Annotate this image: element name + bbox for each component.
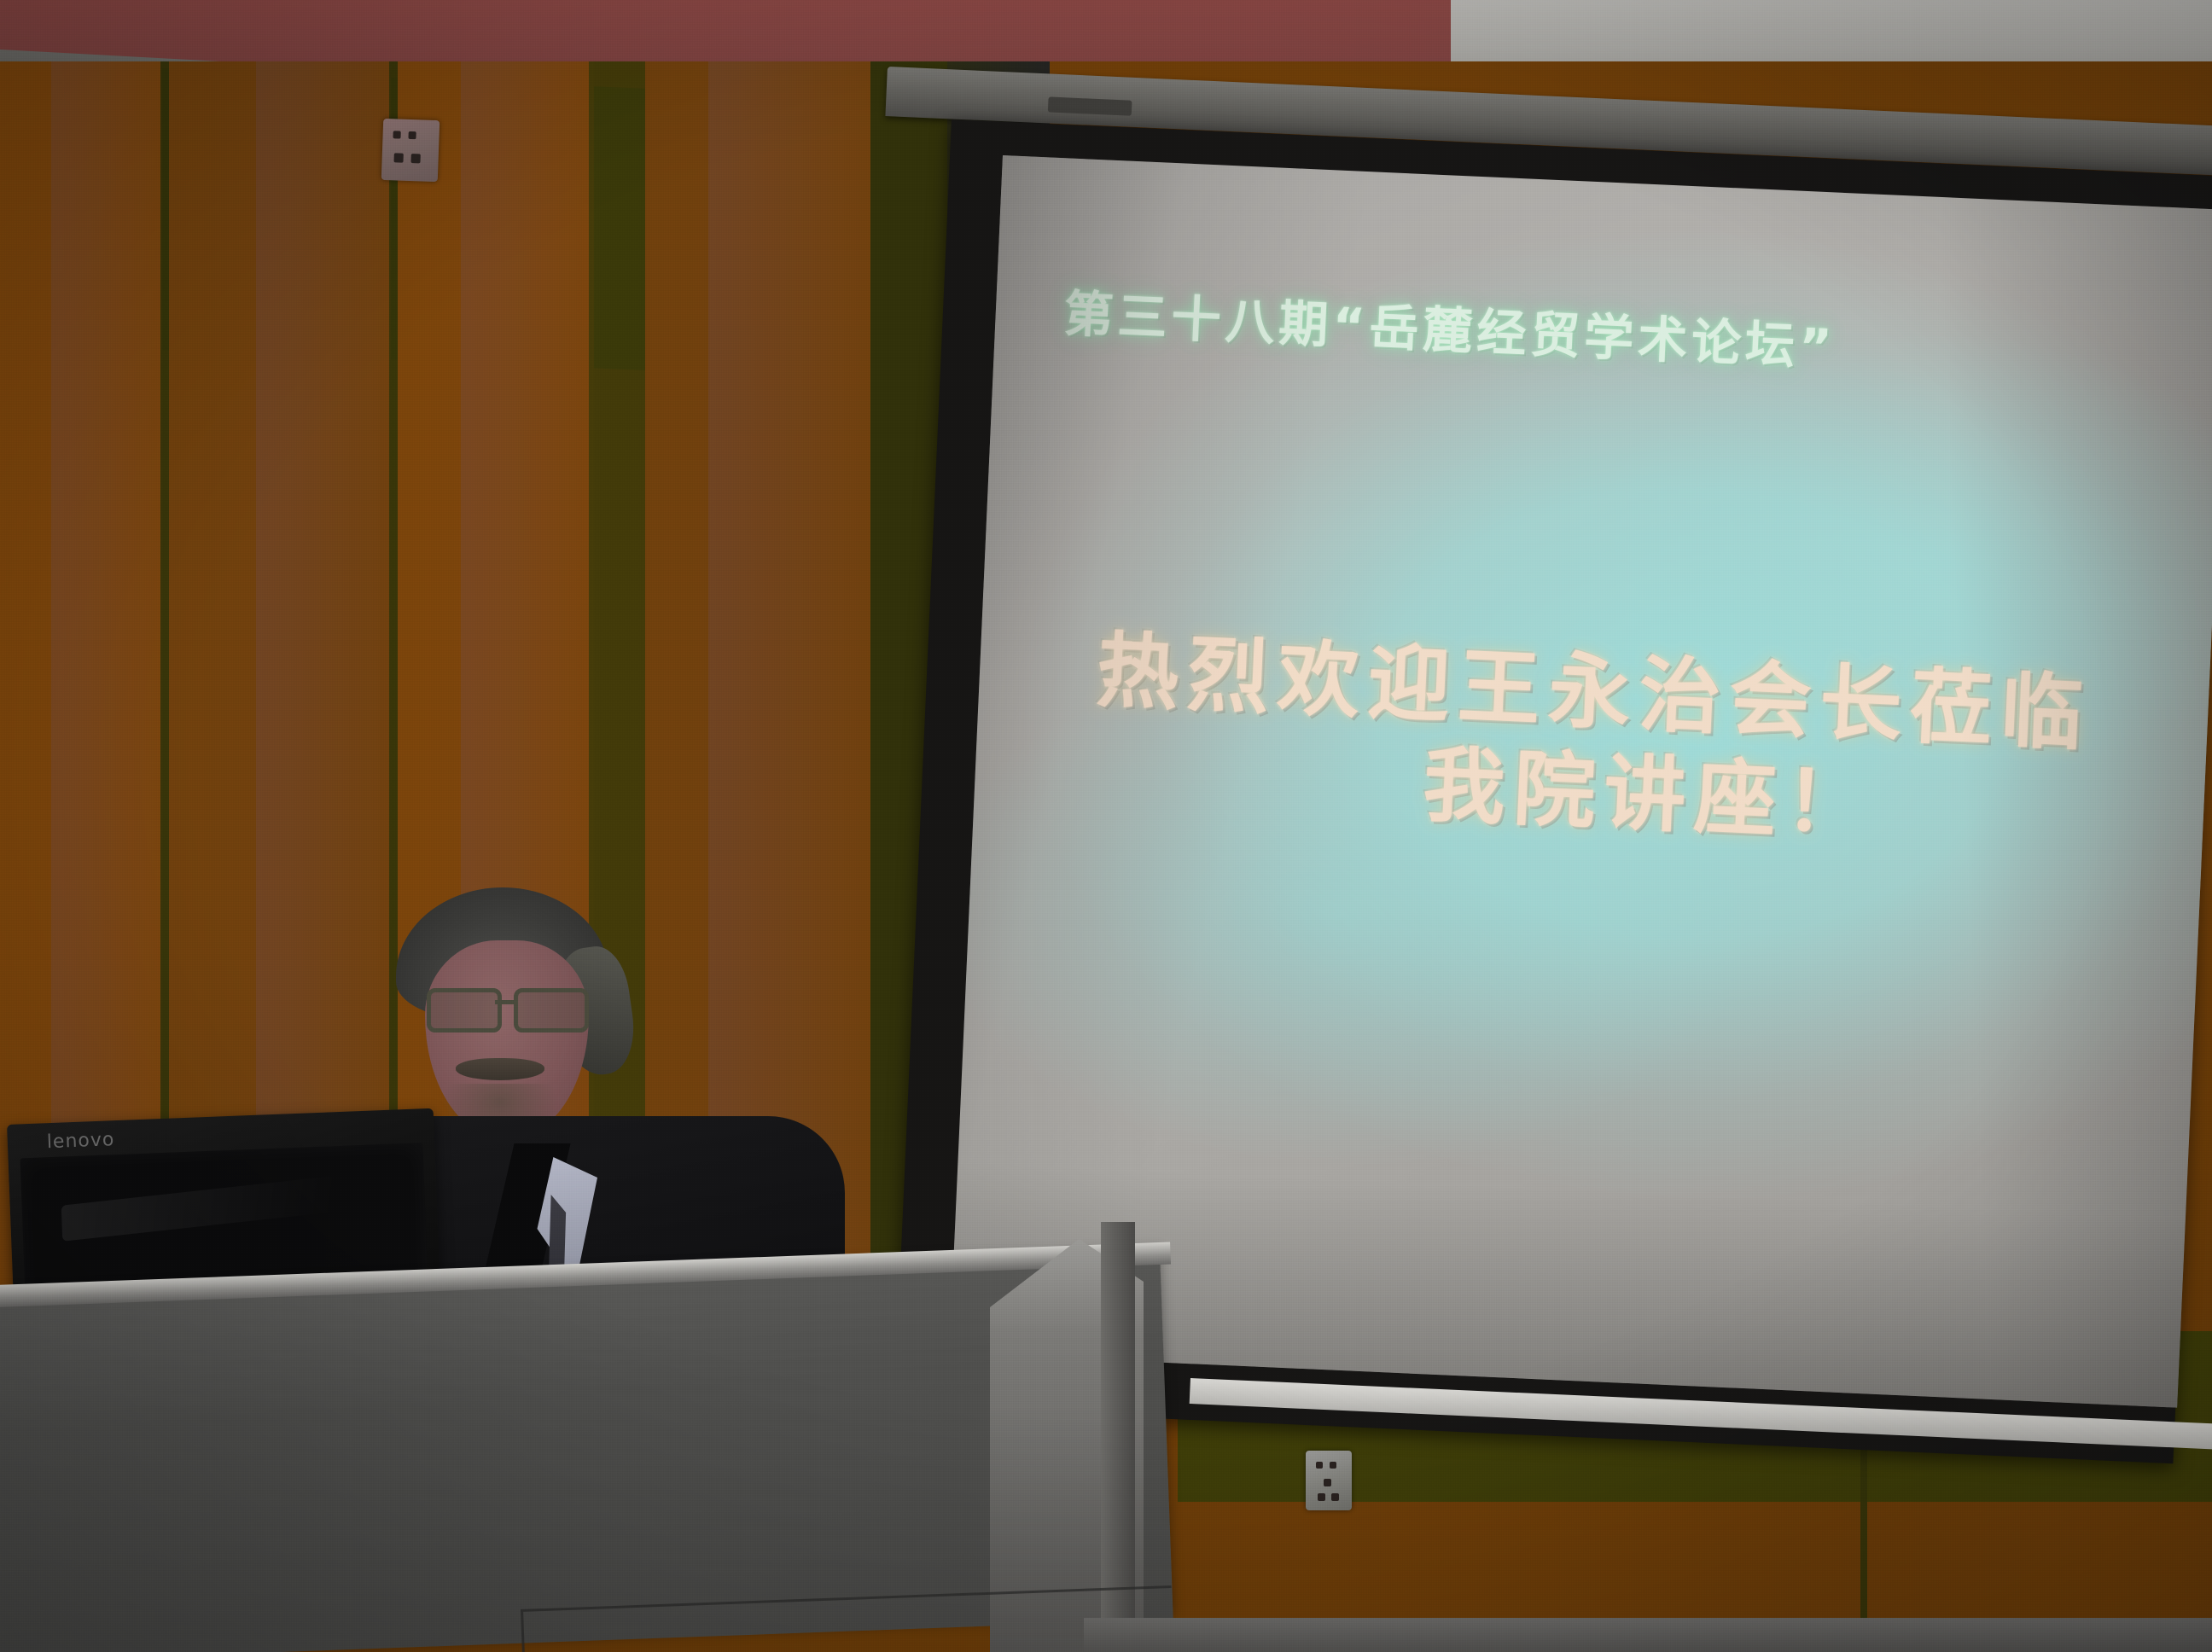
- eyeglasses-icon: [425, 988, 596, 1026]
- socket-hole: [393, 153, 403, 162]
- slide-main-text: 热烈欢迎王永治会长莅临 我院讲座！: [974, 615, 2210, 870]
- presenter-mustache: [456, 1058, 544, 1080]
- socket-hole: [393, 131, 400, 138]
- wall-socket-lower: [1306, 1451, 1352, 1510]
- eyeglass-lens-left: [427, 988, 502, 1032]
- socket-hole: [1324, 1479, 1331, 1486]
- projector-screen-surface: 第三十八期“岳麓经贸学术论坛” 热烈欢迎王永治会长莅临 我院讲座！: [949, 155, 2212, 1408]
- slide-header-text: 第三十八期“岳麓经贸学术论坛”: [1062, 273, 1837, 379]
- socket-hole: [410, 154, 420, 163]
- socket-hole: [408, 131, 416, 139]
- lenovo-logo: lenovo: [46, 1129, 114, 1153]
- wall-socket-upper: [381, 119, 439, 182]
- eyeglass-bridge: [495, 1000, 515, 1004]
- floor-baseboard: [1084, 1618, 2212, 1652]
- screen-latch: [1048, 96, 1132, 115]
- socket-hole: [1318, 1493, 1325, 1501]
- lecture-hall-photo: 第三十八期“岳麓经贸学术论坛” 热烈欢迎王永治会长莅临 我院讲座！ lenovo: [0, 0, 2212, 1652]
- socket-hole: [1330, 1462, 1336, 1469]
- eyeglass-lens-right: [514, 988, 589, 1032]
- socket-hole: [1331, 1493, 1339, 1501]
- socket-hole: [1316, 1462, 1323, 1469]
